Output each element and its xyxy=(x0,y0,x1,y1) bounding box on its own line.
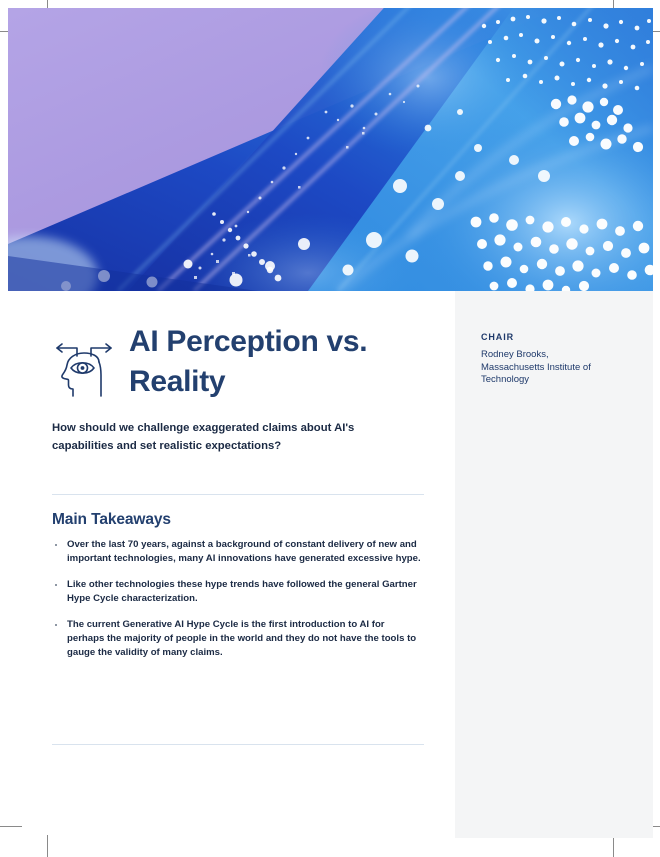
chair-role-label: CHAIR xyxy=(481,332,621,342)
title-row: AI Perception vs. Reality xyxy=(52,322,424,402)
head-profile-with-eye-and-arrows-icon xyxy=(52,338,116,400)
article-column: AI Perception vs. Reality How should we … xyxy=(52,322,424,455)
page-canvas: CHAIR Rodney Brooks, Massachusetts Insti… xyxy=(0,0,660,857)
list-item: The current Generative AI Hype Cycle is … xyxy=(52,618,424,659)
list-item: Like other technologies these hype trend… xyxy=(52,578,424,605)
page-subtitle: How should we challenge exaggerated clai… xyxy=(52,420,392,455)
hero-image xyxy=(8,8,653,291)
crop-mark-bottom-left-horizontal xyxy=(0,826,22,827)
chair-affiliation-line-1: Massachusetts Institute of xyxy=(481,362,591,373)
chair-affiliation-line-2: Technology xyxy=(481,374,529,385)
divider-above-takeaways xyxy=(52,494,424,495)
crop-mark-bottom-right-vertical xyxy=(613,835,614,857)
takeaways-list: Over the last 70 years, against a backgr… xyxy=(52,538,424,659)
divider-below-takeaways xyxy=(52,744,424,745)
chair-sidebar: CHAIR Rodney Brooks, Massachusetts Insti… xyxy=(455,291,653,838)
chair-person-name: Rodney Brooks, xyxy=(481,349,549,360)
crop-mark-bottom-left-vertical xyxy=(47,835,48,857)
takeaways-heading: Main Takeaways xyxy=(52,511,171,529)
chair-sidebar-content: CHAIR Rodney Brooks, Massachusetts Insti… xyxy=(481,332,621,387)
chair-name: Rodney Brooks, Massachusetts Institute o… xyxy=(481,349,621,387)
page-title: AI Perception vs. Reality xyxy=(116,322,424,402)
list-item: Over the last 70 years, against a backgr… xyxy=(52,538,424,565)
